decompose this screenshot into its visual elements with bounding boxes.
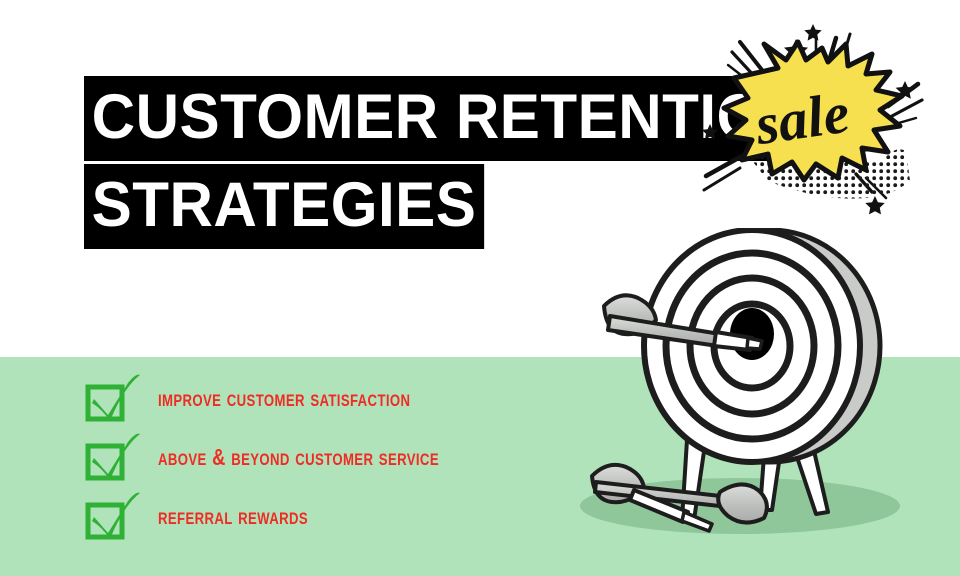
checklist: IMPROVE CUSTOMER SATISFACTION Above & Be…	[84, 370, 504, 547]
checkbox-checked-icon[interactable]	[84, 495, 142, 541]
list-item-label: Above & Beyond customer service	[158, 445, 439, 472]
sale-word: sale	[751, 80, 854, 158]
checkbox-checked-icon[interactable]	[84, 436, 142, 482]
list-item[interactable]: referral Rewards	[84, 488, 504, 547]
sale-badge: sale	[690, 8, 942, 230]
checkbox-checked-icon[interactable]	[84, 377, 142, 423]
page-title-line-2: STRATEGIES	[84, 164, 484, 249]
list-item-label: IMPROVE CUSTOMER SATISFACTION	[158, 386, 410, 413]
dartboard-illustration	[570, 228, 960, 538]
list-item-label: referral Rewards	[158, 504, 308, 531]
list-item[interactable]: Above & Beyond customer service	[84, 429, 504, 488]
list-item[interactable]: IMPROVE CUSTOMER SATISFACTION	[84, 370, 504, 429]
poster-canvas: CUSTOMER RETENTION STRATEGIES	[0, 0, 960, 576]
burst-lowerleft-lines-icon	[704, 156, 742, 190]
